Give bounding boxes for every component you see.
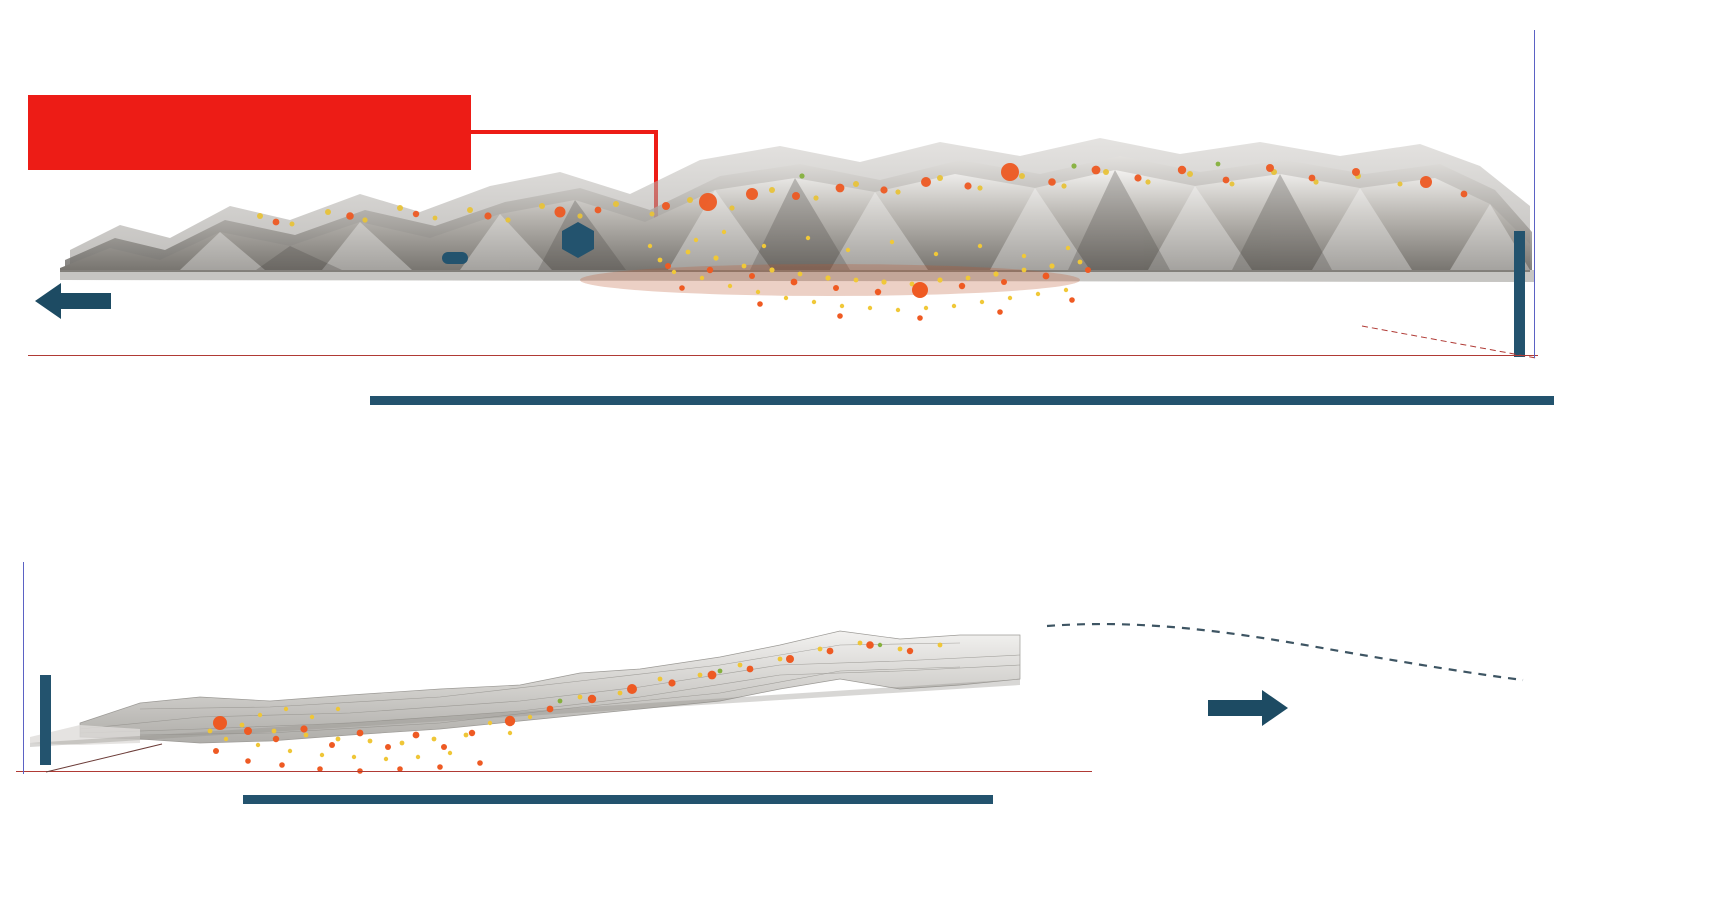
open-north-arrow-icon: [35, 281, 111, 321]
bottom-z-axis-line: [23, 562, 24, 774]
open-east-arrow-icon: [1208, 688, 1288, 728]
top-model-svg: [60, 120, 1540, 365]
bottom-model-svg: [20, 605, 1080, 780]
slide-canvas: [0, 0, 1727, 908]
top-z-axis-line: [1534, 30, 1535, 358]
top-scale-bar: [370, 396, 1554, 405]
bottom-north-leader-line: [44, 742, 164, 774]
bottom-3d-model: [20, 605, 1080, 780]
top-x-axis-line: [28, 355, 1538, 356]
pilot-facility-hex-icon: [562, 222, 594, 258]
pilot-facility-label: [442, 252, 468, 264]
top-3d-model: [60, 120, 1540, 365]
bottom-scale-bar: [243, 795, 993, 804]
bottom-projected-surface-line: [1045, 618, 1525, 688]
bottom-x-axis-line: [16, 771, 1092, 772]
top-east-leader-line: [1360, 318, 1538, 360]
